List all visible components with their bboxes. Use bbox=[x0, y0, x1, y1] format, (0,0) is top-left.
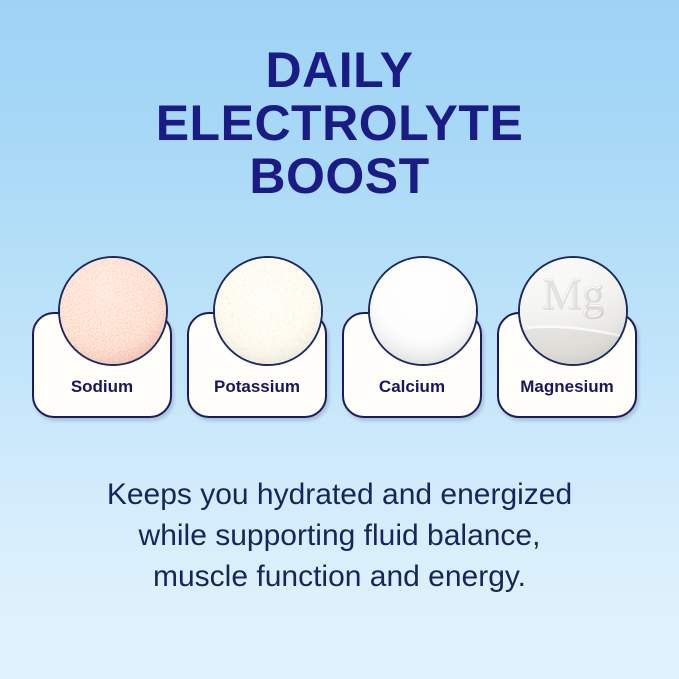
ingredient-card-row: Sodium bbox=[0, 256, 679, 426]
poster-canvas: DAILY ELECTROLYTE BOOST Sodium bbox=[0, 0, 679, 679]
page-title: DAILY ELECTROLYTE BOOST bbox=[0, 44, 679, 203]
description-line-3: muscle function and energy. bbox=[0, 556, 679, 597]
ingredient-label-potassium: Potassium bbox=[189, 377, 325, 397]
cream-white-powder-icon bbox=[213, 256, 323, 366]
pink-salt-granules-icon bbox=[58, 256, 168, 366]
headline-line-1: DAILY bbox=[0, 44, 679, 97]
description-line-2: while supporting fluid balance, bbox=[0, 515, 679, 556]
ingredient-label-sodium: Sodium bbox=[34, 377, 170, 397]
headline-line-2: ELECTROLYTE bbox=[0, 97, 679, 150]
headline-line-3: BOOST bbox=[0, 150, 679, 203]
description-line-1: Keeps you hydrated and energized bbox=[0, 474, 679, 515]
mg-tablet-icon: Mg Mg Mg bbox=[518, 256, 628, 366]
grey-white-powder-icon bbox=[368, 256, 478, 366]
description-text: Keeps you hydrated and energized while s… bbox=[0, 474, 679, 597]
ingredient-label-calcium: Calcium bbox=[344, 377, 480, 397]
ingredient-label-magnesium: Magnesium bbox=[499, 377, 635, 397]
